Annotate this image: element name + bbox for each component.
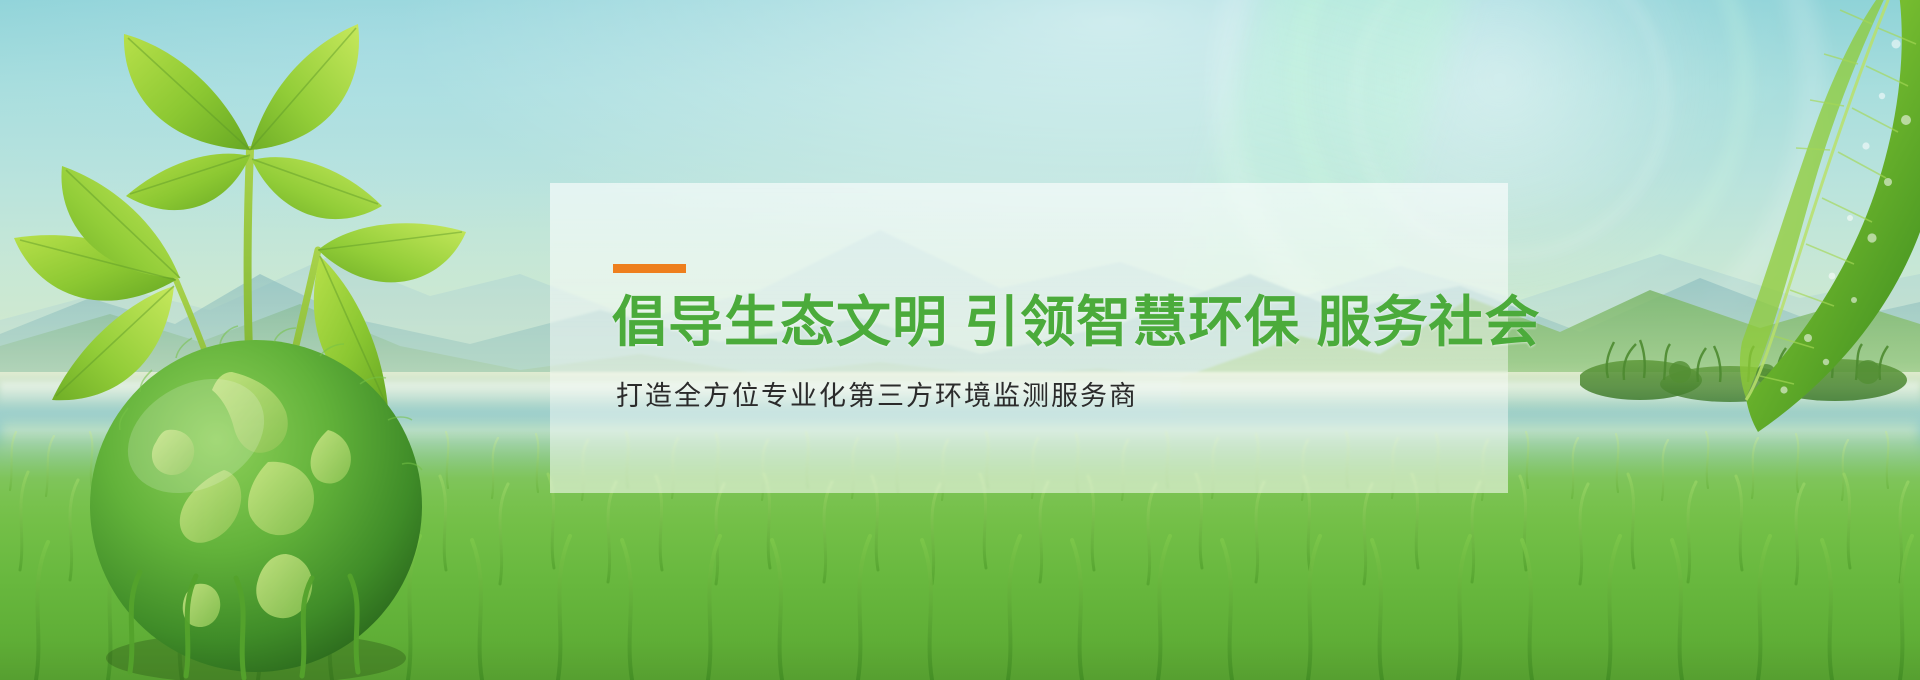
hero-subheadline: 打造全方位专业化第三方环境监测服务商 xyxy=(616,379,1138,413)
shore-vegetation xyxy=(1580,318,1920,408)
hero-headline: 倡导生态文明 引领智慧环保 服务社会 xyxy=(612,291,1541,353)
orange-accent-dash xyxy=(613,264,686,273)
globe-sprout-graphic xyxy=(0,0,560,680)
hero-text-panel: 倡导生态文明 引领智慧环保 服务社会 打造全方位专业化第三方环境监测服务商 xyxy=(550,183,1508,493)
dew-leaf xyxy=(1700,0,1920,535)
hero-banner: 倡导生态文明 引领智慧环保 服务社会 打造全方位专业化第三方环境监测服务商 xyxy=(0,0,1920,680)
